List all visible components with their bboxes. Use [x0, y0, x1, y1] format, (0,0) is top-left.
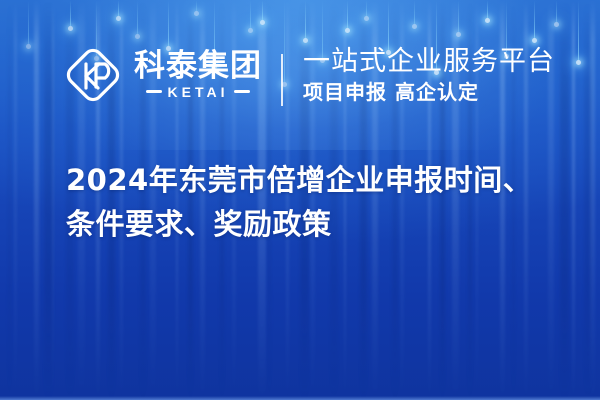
brand-name-cn: 科泰集团	[134, 51, 262, 82]
ketai-diamond-kp-logo-icon	[62, 44, 124, 106]
banner-header: 科泰集团 KETAI 一站式企业服务平台 项目申报 高企认定	[0, 0, 600, 150]
brand-wordmark: 科泰集团 KETAI	[134, 51, 262, 100]
brand-name-en-row: KETAI	[146, 84, 251, 100]
tagline-secondary: 项目申报 高企认定	[303, 80, 555, 104]
tagline-block: 一站式企业服务平台 项目申报 高企认定	[303, 46, 555, 104]
banner-title: 2024年东莞市倍增企业申报时间、 条件要求、奖励政策	[66, 158, 566, 246]
dash-right-icon	[234, 90, 250, 93]
promo-banner: 科泰集团 KETAI 一站式企业服务平台 项目申报 高企认定 2024年东莞市倍…	[0, 0, 600, 400]
tagline-primary: 一站式企业服务平台	[303, 46, 555, 77]
brand-tagline-divider	[281, 54, 283, 106]
banner-title-line-2: 条件要求、奖励政策	[66, 202, 566, 246]
brand-name-en: KETAI	[168, 84, 229, 100]
bottom-edge-highlight	[0, 396, 600, 400]
dash-left-icon	[146, 90, 162, 93]
brand-lockup: 科泰集团 KETAI	[62, 44, 262, 106]
banner-title-line-1: 2024年东莞市倍增企业申报时间、	[66, 158, 566, 202]
